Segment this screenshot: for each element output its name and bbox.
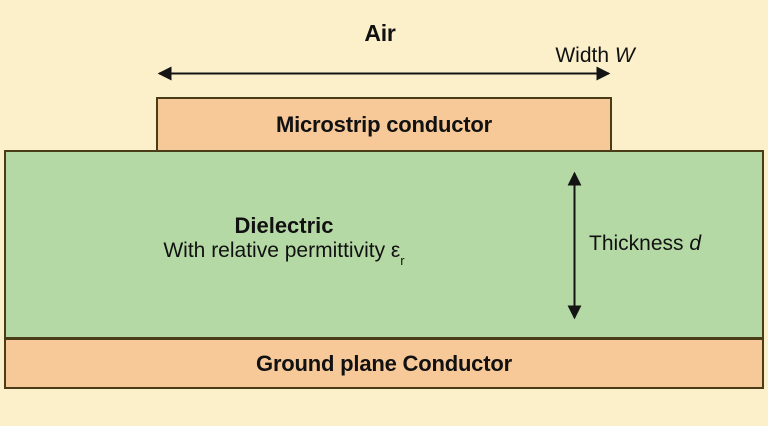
thickness-dimension-symbol: d bbox=[689, 232, 701, 255]
ground-plane-label: Ground plane Conductor bbox=[256, 351, 512, 377]
dielectric-permittivity-symbol: ε bbox=[391, 239, 400, 262]
air-region-label: Air bbox=[0, 20, 764, 47]
double-arrow-horizontal-icon bbox=[155, 63, 613, 84]
microstrip-cross-section-diagram: Air Width W Microstrip conductor Dielect… bbox=[0, 0, 768, 426]
width-dimension-symbol: W bbox=[615, 44, 635, 67]
dielectric-permittivity-subscript: r bbox=[400, 253, 404, 268]
thickness-dimension-label-text: Thickness bbox=[589, 232, 689, 255]
dielectric-text-block: Dielectric With relative permittivity εr bbox=[4, 213, 564, 265]
thickness-dimension-label: Thickness d bbox=[589, 232, 701, 256]
ground-plane-layer: Ground plane Conductor bbox=[4, 338, 764, 389]
dielectric-subtitle-prefix: With relative permittivity bbox=[163, 239, 391, 262]
double-arrow-vertical-icon bbox=[564, 169, 585, 322]
microstrip-conductor-label: Microstrip conductor bbox=[276, 112, 492, 138]
dielectric-subtitle: With relative permittivity εr bbox=[4, 239, 564, 265]
dielectric-title: Dielectric bbox=[4, 213, 564, 239]
microstrip-conductor-layer: Microstrip conductor bbox=[156, 97, 612, 152]
